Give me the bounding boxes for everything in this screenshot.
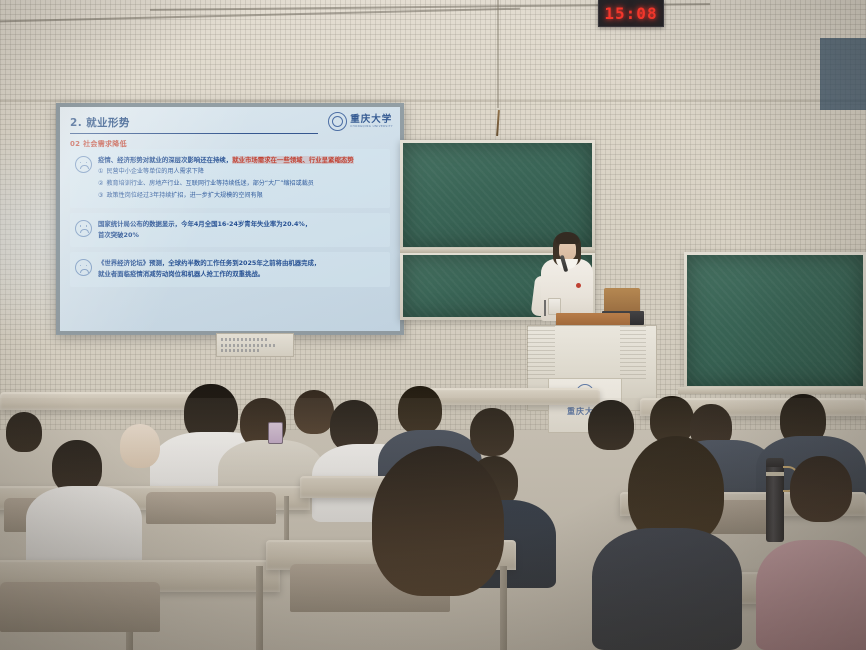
- block-1-item-3: ③政策性岗位经过3年持续扩招，进一步扩大规模的空间有限: [98, 190, 384, 202]
- thermos-cap: [766, 458, 784, 467]
- blackboard-right: [684, 252, 866, 389]
- foreground-torso-pink: [756, 540, 866, 650]
- wall-placard: [216, 333, 294, 357]
- section-title: 社会需求降低: [83, 140, 127, 148]
- item-3-text: 政策性岗位经过3年持续扩招，进一步扩大规模的空间有限: [106, 192, 262, 199]
- sad-face-icon: [75, 156, 92, 173]
- desk-leg: [500, 566, 507, 650]
- block-2-line-1: 国家统计局公布的数据显示，今年4月全国16-24岁青年失业率为20.4%，: [98, 219, 384, 230]
- wall-seam-vertical: [497, 0, 499, 108]
- audience-head: [120, 424, 160, 468]
- block-1-lead-highlight: 就业市场需求在一些领域、行业呈紧缩态势: [232, 156, 353, 164]
- audience-head: [294, 390, 334, 434]
- podium-speaker-grille-right: [620, 323, 646, 379]
- podium-speaker-grille-left: [527, 323, 555, 379]
- sad-face-icon: [75, 259, 92, 276]
- audience-head: [470, 408, 514, 456]
- block-2-line-2: 首次突破20%: [98, 230, 384, 241]
- item-3-number: ③: [98, 192, 103, 199]
- chalk-ledge-right: [678, 387, 866, 394]
- foreground-torso-right: [592, 528, 742, 650]
- seat-back: [0, 582, 160, 632]
- foreground-head-center: [372, 446, 504, 596]
- lecture-hall-photo: 15:08 2. 就业形势 02 社会需求降低 重庆大学 CHONGQING U…: [0, 0, 866, 650]
- block-3-line-2: 就业者面临疫情消减劳动岗位和机器人抢工作的双重挑战。: [98, 269, 384, 280]
- item-1-number: ①: [98, 168, 103, 175]
- seat-back: [146, 492, 276, 524]
- university-name-cn: 重庆大学: [350, 115, 393, 125]
- title-divider: [70, 133, 318, 134]
- audience-head: [588, 400, 634, 450]
- block-1-item-2: ②教育培训行业、房地产行业、互联网行业等持续低迷，部分“大厂”缩招或裁员: [98, 178, 384, 190]
- speaker-badge: [576, 283, 581, 288]
- slide-block-1: 疫情、经济形势对就业的深层次影响还在持续，就业市场需求在一些领域、行业呈紧缩态势…: [70, 149, 390, 208]
- audience-torso-white: [26, 486, 142, 568]
- slide-body: 疫情、经济形势对就业的深层次影响还在持续，就业市场需求在一些领域、行业呈紧缩态势…: [70, 149, 390, 292]
- university-seal-icon: [328, 112, 347, 131]
- audience-head: [398, 386, 442, 434]
- audience-head: [790, 456, 852, 522]
- placard-line-1: [221, 338, 267, 341]
- item-1-text: 民营中小企业等单位的用人需求下降: [106, 168, 204, 175]
- block-1-lead: 疫情、经济形势对就业的深层次影响还在持续，就业市场需求在一些领域、行业呈紧缩态势: [98, 155, 384, 166]
- right-dark-panel: [820, 38, 866, 110]
- thermos-band: [766, 472, 784, 476]
- desk-row-far-center: [420, 388, 600, 405]
- placard-line-2: [221, 344, 277, 347]
- sad-face-icon: [75, 220, 92, 237]
- placard-line-3: [221, 349, 259, 352]
- microphone-stand: [544, 300, 546, 316]
- mobile-phone: [268, 422, 283, 444]
- clock-time: 15:08: [604, 4, 657, 23]
- wall-seam-horizontal: [0, 100, 866, 102]
- university-name-en: CHONGQING UNIVERSITY: [350, 126, 393, 129]
- section-number: 02: [70, 140, 80, 148]
- slide-block-3: 《世界经济论坛》预测，全球约半数的工作任务到2025年之前将由机器完成， 就业者…: [70, 252, 390, 286]
- block-3-line-1: 《世界经济论坛》预测，全球约半数的工作任务到2025年之前将由机器完成，: [98, 258, 384, 269]
- slide-section-heading: 02 社会需求降低: [70, 139, 390, 149]
- item-2-text: 教育培训行业、房地产行业、互联网行业等持续低迷，部分“大厂”缩招或裁员: [106, 180, 313, 187]
- audience-head: [6, 412, 42, 452]
- block-1-lead-plain: 疫情、经济形势对就业的深层次影响还在持续，: [98, 156, 232, 164]
- desk-row-far-left: [0, 392, 210, 410]
- block-1-item-1: ①民营中小企业等单位的用人需求下降: [98, 166, 384, 178]
- slide-block-2: 国家统计局公布的数据显示，今年4月全国16-24岁青年失业率为20.4%， 首次…: [70, 213, 390, 247]
- presentation-slide: 2. 就业形势 02 社会需求降低 重庆大学 CHONGQING UNIVERS…: [60, 107, 400, 331]
- desk-leg: [284, 496, 289, 544]
- speaker-fringe: [556, 233, 579, 244]
- desk-leg: [256, 566, 263, 650]
- university-logo: 重庆大学 CHONGQING UNIVERSITY: [328, 112, 393, 131]
- projection-screen: 2. 就业形势 02 社会需求降低 重庆大学 CHONGQING UNIVERS…: [60, 107, 400, 331]
- led-clock: 15:08: [598, 0, 664, 27]
- item-2-number: ②: [98, 180, 103, 187]
